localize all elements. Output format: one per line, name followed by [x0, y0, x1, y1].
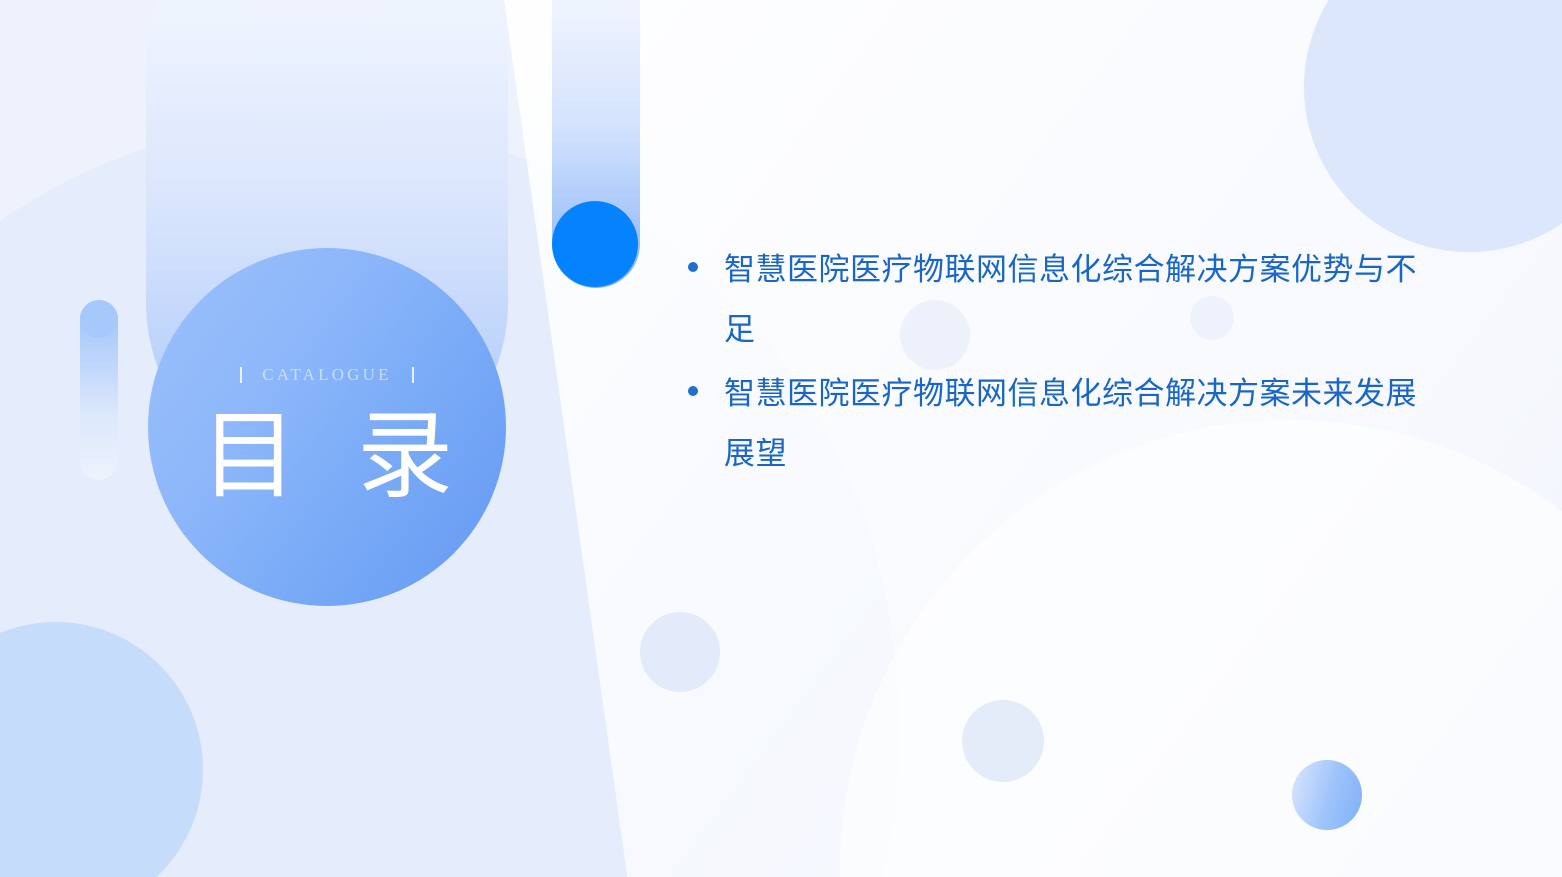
catalogue-circle-badge: CATALOGUE 目 录 — [148, 248, 506, 606]
bullet-dot-icon — [688, 262, 698, 272]
table-of-contents-list: 智慧医院医疗物联网信息化综合解决方案优势与不足 智慧医院医疗物联网信息化综合解决… — [688, 240, 1448, 488]
decor-pill-middle — [552, 0, 640, 288]
faint-circle-decor — [962, 700, 1044, 782]
decor-pill-left-small — [80, 300, 118, 480]
background-arc-shape-secondary — [840, 420, 1562, 877]
slide-canvas: CATALOGUE 目 录 智慧医院医疗物联网信息化综合解决方案优势与不足 智慧… — [0, 0, 1562, 877]
decor-pill-left-small-cap — [80, 300, 118, 338]
catalogue-title: 目 录 — [183, 409, 471, 505]
catalogue-eyebrow-label: CATALOGUE — [262, 365, 391, 385]
decor-accent-dot — [552, 201, 638, 287]
decor-circle-bottom-left — [0, 622, 203, 877]
bullet-dot-icon — [688, 386, 698, 396]
faint-circle-decor — [640, 612, 720, 692]
decor-circle-top-right — [1304, 0, 1562, 252]
tick-mark-right-icon — [412, 367, 414, 383]
tick-mark-left-icon — [240, 367, 242, 383]
list-item[interactable]: 智慧医院医疗物联网信息化综合解决方案未来发展展望 — [688, 364, 1448, 484]
list-item-label: 智慧医院医疗物联网信息化综合解决方案未来发展展望 — [724, 364, 1448, 484]
catalogue-eyebrow-row: CATALOGUE — [240, 365, 413, 385]
list-item-label: 智慧医院医疗物联网信息化综合解决方案优势与不足 — [724, 240, 1448, 360]
decor-circle-bottom-right — [1292, 760, 1362, 830]
list-item[interactable]: 智慧医院医疗物联网信息化综合解决方案优势与不足 — [688, 240, 1448, 360]
